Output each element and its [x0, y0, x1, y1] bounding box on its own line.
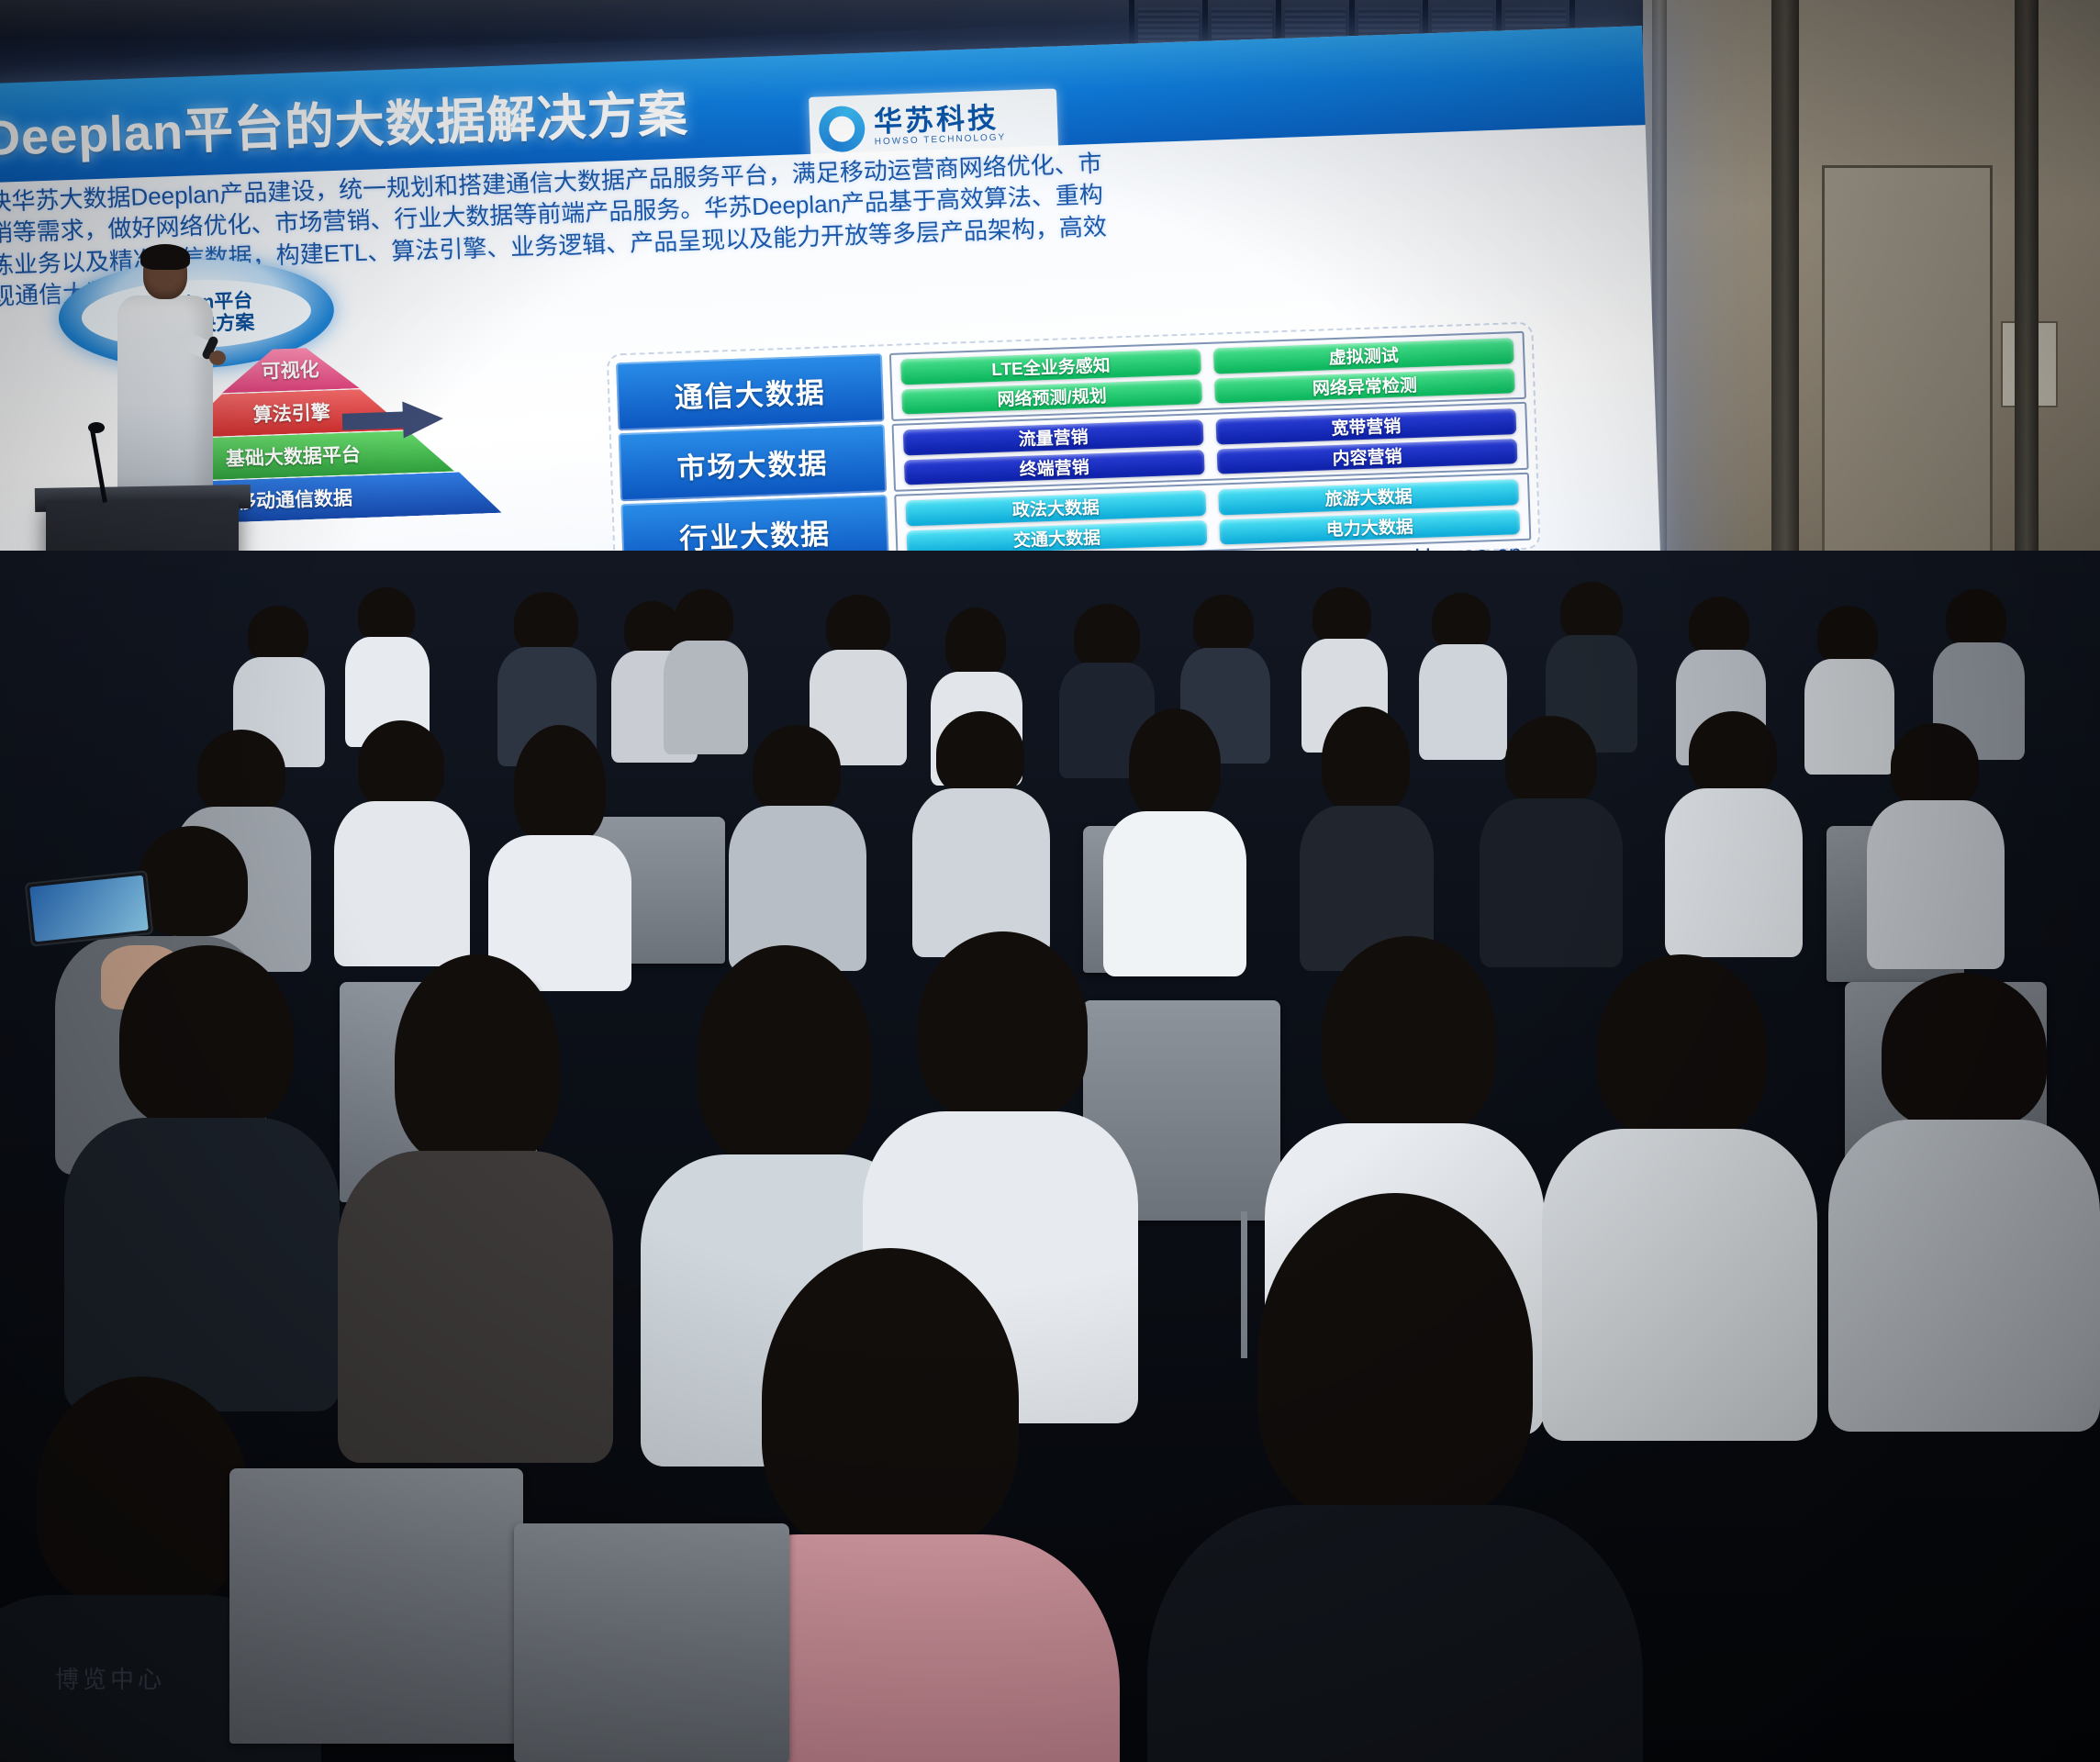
chair[interactable]	[514, 1523, 789, 1762]
presenter-hand	[209, 351, 226, 365]
presenter	[110, 248, 220, 514]
smartphone[interactable]	[25, 870, 154, 947]
matrix-chip[interactable]: LTE全业务感知	[900, 349, 1201, 385]
presenter-torso	[117, 296, 213, 493]
logo-swirl-icon	[818, 106, 866, 153]
wall-column	[1771, 0, 1799, 606]
matrix-chip[interactable]: 宽带营销	[1216, 408, 1517, 444]
matrix-chip[interactable]: 网络异常检测	[1214, 368, 1515, 404]
matrix-chip[interactable]: 政法大数据	[905, 490, 1206, 526]
matrix-category: 市场大数据	[619, 424, 887, 501]
matrix-chip[interactable]: 虚拟测试	[1213, 338, 1514, 374]
matrix-chip[interactable]: 电力大数据	[1219, 509, 1520, 545]
wall-column	[2015, 0, 2039, 642]
slide-title-text: 于Deeplan平台的大数据解决方案	[0, 72, 689, 172]
flow-arrow-icon	[341, 400, 443, 440]
matrix-chip[interactable]: 终端营销	[904, 450, 1205, 485]
phone-screen	[29, 875, 149, 942]
matrix-chip[interactable]: 网络预测/规划	[901, 379, 1202, 415]
venue-floor-label: 博览中心	[55, 1661, 165, 1695]
matrix-category: 通信大数据	[616, 353, 884, 430]
matrix-chip[interactable]: 流量营销	[903, 419, 1204, 455]
audience-area	[0, 551, 2100, 1762]
mic-head-icon	[88, 422, 105, 433]
elevator-door[interactable]	[1822, 165, 1993, 602]
conference-hall-photo: 于Deeplan平台的大数据解决方案 华苏科技 HOWSO TECHNOLOGY…	[0, 0, 2100, 1762]
chair-leg	[1241, 1211, 1247, 1358]
logo-company-en: HOWSO TECHNOLOGY	[875, 133, 1007, 148]
chair[interactable]	[229, 1468, 523, 1744]
matrix-chip[interactable]: 内容营销	[1217, 439, 1518, 474]
solution-matrix: 通信大数据 LTE全业务感知 虚拟测试 网络预测/规划 网络异常检测 市场大数据…	[607, 321, 1541, 581]
matrix-chip[interactable]: 旅游大数据	[1218, 479, 1519, 515]
pyramid-layer: 可视化	[220, 346, 360, 393]
presenter-hair	[140, 244, 190, 270]
